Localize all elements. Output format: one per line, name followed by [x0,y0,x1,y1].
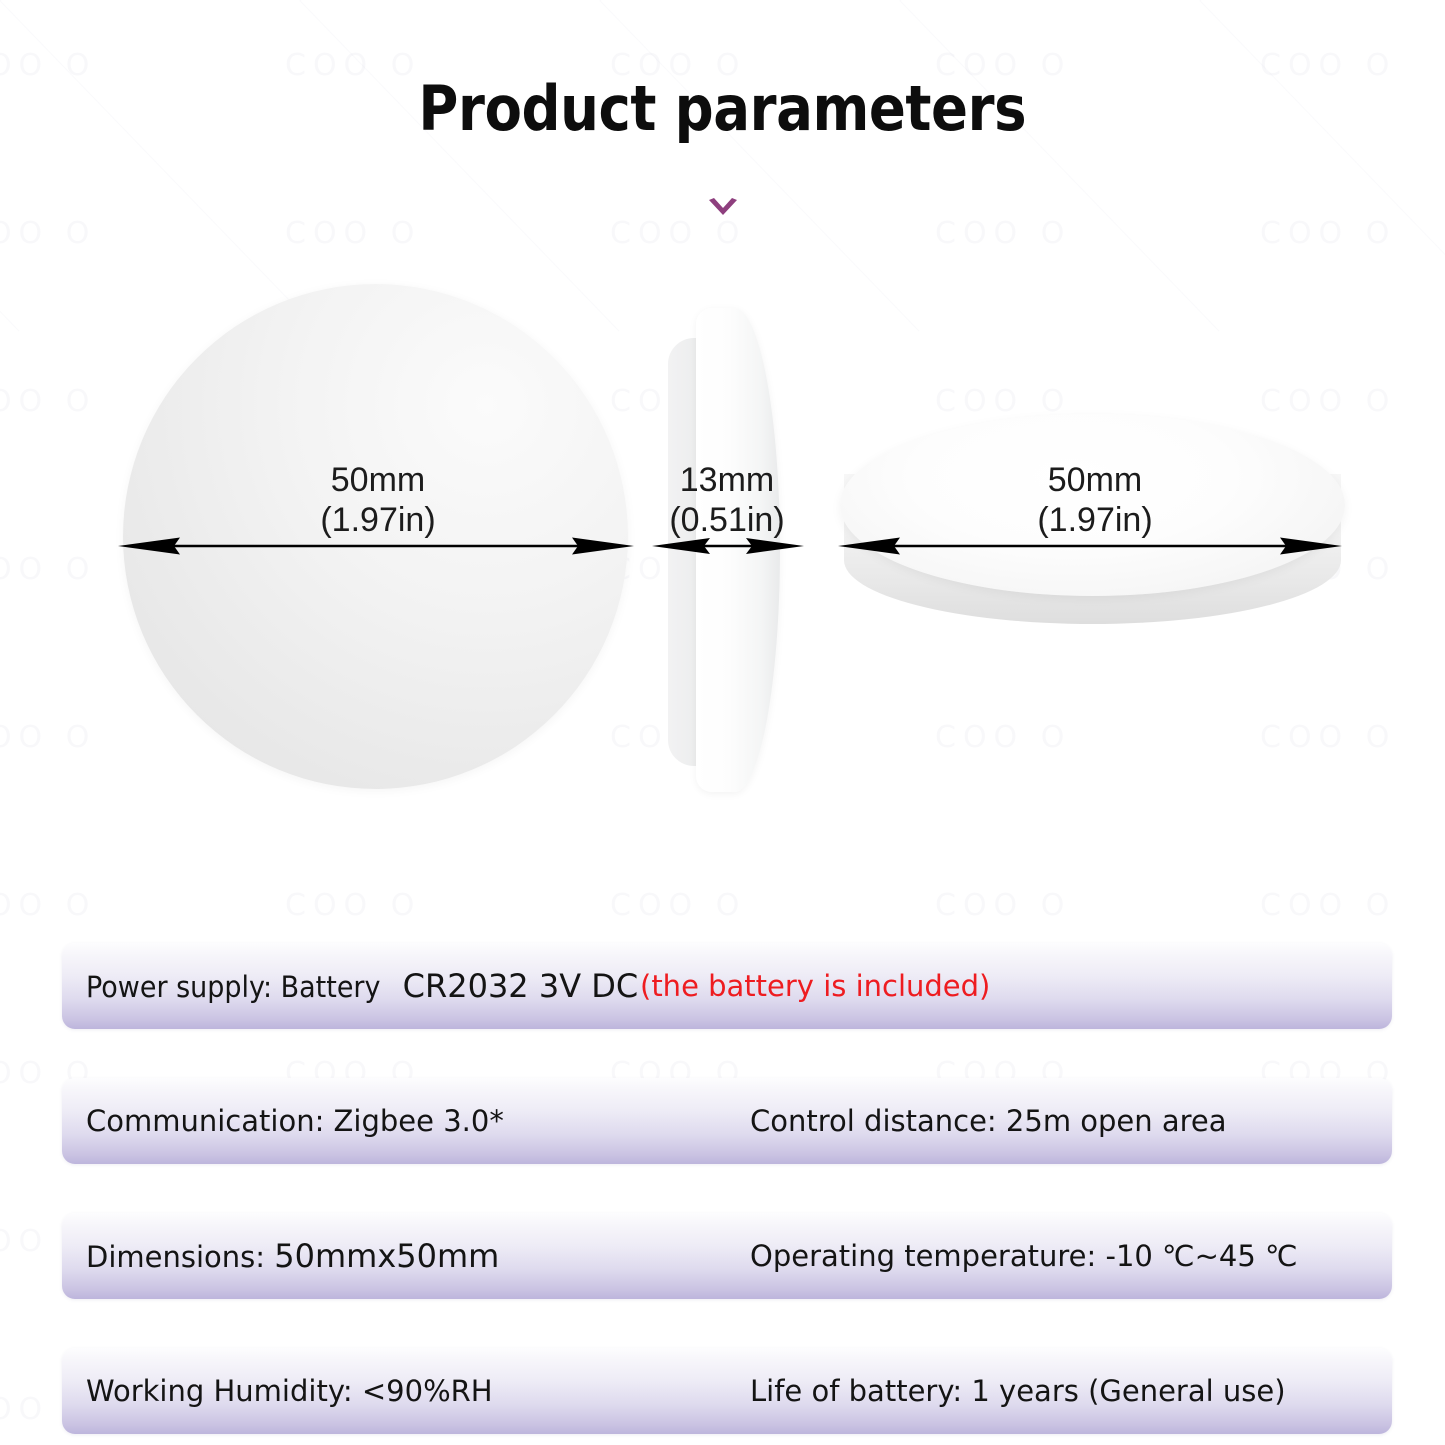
watermark-text: COO O [1260,888,1396,923]
spec-operating-temperature-label: Operating temperature: -10 ℃~45 ℃ [750,1239,1298,1273]
side-view-dimension-primary: 13mm [607,460,847,500]
spec-communication-label: Communication: Zigbee 3.0* [86,1104,504,1138]
spec-row-dimensions: Dimensions: 50mmx50mm Operating temperat… [62,1213,1392,1299]
perspective-view-dimension-arrow [838,535,1342,557]
side-view-dimension-arrow [652,535,804,557]
spec-row-communication: Communication: Zigbee 3.0* Control dista… [62,1078,1392,1164]
spec-row-power-supply: Power supply: Battery CR2032 3V DC (the … [62,943,1392,1029]
watermark-hairline [300,0,620,1]
watermark-text: COO O [935,216,1071,251]
spec-control-distance-label: Control distance: 25m open area [750,1104,1227,1138]
spec-list: Power supply: Battery CR2032 3V DC (the … [62,943,1392,1434]
watermark-text: COO O [0,888,96,923]
watermark-text: COO O [0,216,96,251]
front-view-dimension-arrow [118,535,634,557]
spec-working-humidity-label: Working Humidity: <90%RH [86,1374,493,1408]
watermark-hairline [0,0,20,1]
spec-power-supply-value: CR2032 3V DC [403,967,639,1005]
header: Product parameters [0,72,1445,145]
chevron-down-icon [706,196,740,226]
spec-power-supply-text: Power supply: Battery [86,970,380,1004]
front-view-dimension-label: 50mm (1.97in) [188,460,568,540]
spec-row-humidity: Working Humidity: <90%RH Life of battery… [62,1348,1392,1434]
watermark-hairline [900,0,1220,1]
watermark-hairline [1200,0,1445,1]
spec-dimensions-text: Dimensions: [86,1240,274,1274]
watermark-text: COO O [935,888,1071,923]
page-title: Product parameters [419,72,1027,145]
watermark-text: COO O [285,888,421,923]
watermark-text: COO O [1260,216,1396,251]
spec-dimensions-label: Dimensions: 50mmx50mm [86,1237,499,1275]
perspective-view-dimension-label: 50mm (1.97in) [905,460,1285,540]
side-view-dimension-label: 13mm (0.51in) [607,460,847,540]
spec-battery-life-label: Life of battery: 1 years (General use) [750,1374,1286,1408]
spec-battery-included-note: (the battery is included) [640,969,990,1003]
watermark-hairline [0,0,320,1]
watermark-text: COO O [285,216,421,251]
spec-dimensions-value: 50mmx50mm [274,1237,499,1275]
watermark-hairline [600,0,920,1]
spec-power-supply-label: Power supply: Battery CR2032 3V DC [86,967,638,1005]
perspective-view-dimension-primary: 50mm [905,460,1285,500]
watermark-text: COO O [610,888,746,923]
front-view-dimension-primary: 50mm [188,460,568,500]
product-illustration-stage: 50mm (1.97in) 13mm (0.51in) 50mm (1.97in… [0,250,1445,860]
